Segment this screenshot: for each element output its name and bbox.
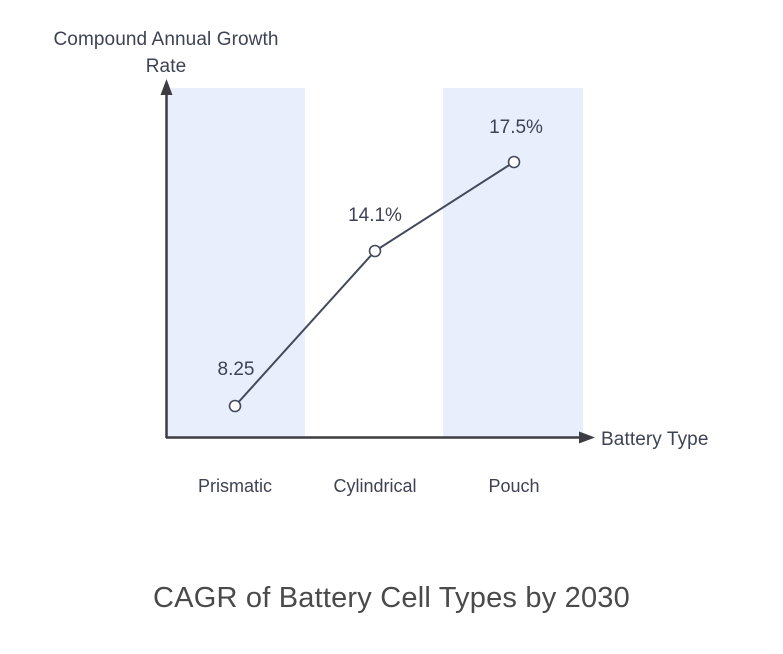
circle-marker-icon[interactable] — [370, 246, 381, 257]
data-label-cylindrical: 14.1% — [348, 204, 402, 228]
plot-area — [0, 0, 783, 654]
background-band-prismatic — [167, 88, 305, 438]
x-tick-label-cylindrical: Cylindrical — [333, 473, 416, 499]
data-label-prismatic: 8.25 — [218, 358, 255, 382]
x-tick-label-pouch: Pouch — [488, 473, 539, 499]
background-band-pouch — [443, 88, 583, 438]
arrow-right-icon — [579, 432, 595, 444]
x-axis-title: Battery Type — [601, 427, 709, 453]
circle-marker-icon[interactable] — [509, 157, 520, 168]
x-tick-label-prismatic: Prismatic — [198, 473, 272, 499]
data-label-pouch: 17.5% — [489, 116, 543, 140]
chart-title: CAGR of Battery Cell Types by 2030 — [0, 578, 783, 618]
chart-container: Compound Annual Growth Rate 8.25 14.1% 1… — [0, 0, 783, 654]
circle-marker-icon[interactable] — [230, 401, 241, 412]
arrow-up-icon — [161, 79, 173, 95]
